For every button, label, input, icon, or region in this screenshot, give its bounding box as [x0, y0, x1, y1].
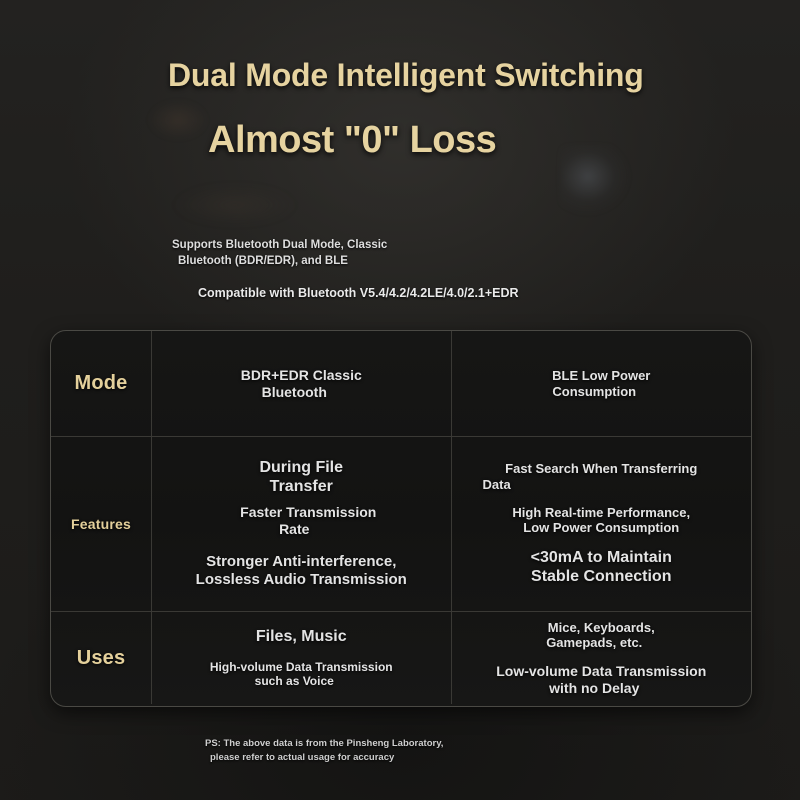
uses-ble-b1-line2: Gamepads, etc. — [546, 635, 642, 650]
cell-features-ble: Fast Search When Transferring Data High … — [452, 437, 752, 611]
page-title: Dual Mode Intelligent Switching — [0, 58, 728, 93]
row-label-cell-uses: Uses — [51, 612, 152, 704]
features-classic-b2-line2: Rate — [279, 521, 309, 538]
page-subtitle: Almost "0" Loss — [0, 93, 800, 161]
table-row: Mode BDR+EDR Classic Bluetooth BLE Low P… — [51, 331, 751, 437]
table-row: Features During File Transfer Faster Tra… — [51, 437, 751, 612]
spec-compatibility: Compatible with Bluetooth V5.4/4.2/4.2LE… — [0, 269, 800, 302]
ghost-shape-left-lower — [175, 185, 295, 225]
comparison-table: Mode BDR+EDR Classic Bluetooth BLE Low P… — [50, 330, 752, 707]
features-ble-b2-line1: High Real-time Performance, — [512, 505, 690, 520]
row-label-mode: Mode — [74, 372, 127, 395]
features-ble-b1-line2: Data — [453, 477, 511, 492]
cell-uses-classic: Files, Music High-volume Data Transmissi… — [152, 612, 452, 704]
footnote-line-2: please refer to actual usage for accurac… — [205, 751, 800, 765]
features-classic-b3-line2: Lossless Audio Transmission — [196, 571, 407, 589]
features-classic-b2-line1: Faster Transmission — [240, 504, 376, 521]
headline-block: Dual Mode Intelligent Switching Almost "… — [0, 58, 800, 160]
cell-features-classic: During File Transfer Faster Transmission… — [152, 437, 452, 611]
cell-mode-ble: BLE Low Power Consumption — [452, 331, 752, 436]
cell-mode-classic: BDR+EDR Classic Bluetooth — [152, 331, 452, 436]
footnote: PS: The above data is from the Pinsheng … — [0, 737, 800, 765]
features-ble-b3-line1: <30mA to Maintain — [531, 549, 672, 568]
uses-ble-b2-line2: with no Delay — [549, 680, 639, 697]
product-infographic-page: Dual Mode Intelligent Switching Almost "… — [0, 0, 800, 800]
mode-classic-line2: Bluetooth — [262, 384, 327, 401]
mode-classic-line1: BDR+EDR Classic — [241, 367, 362, 384]
uses-classic-b2-line1: High-volume Data Transmission — [210, 660, 393, 674]
cell-uses-ble: Mice, Keyboards, Gamepads, etc. Low-volu… — [452, 612, 752, 704]
mode-ble-line1: BLE Low Power — [552, 368, 650, 383]
footnote-line-1: PS: The above data is from the Pinsheng … — [205, 737, 800, 751]
features-ble-b2-line2: Low Power Consumption — [523, 520, 679, 535]
row-label-cell-mode: Mode — [51, 331, 152, 436]
uses-classic-b1-line1: Files, Music — [256, 628, 347, 647]
features-classic-b1-line2: Transfer — [270, 478, 333, 497]
row-label-uses: Uses — [77, 647, 126, 670]
spec-bullets: Supports Bluetooth Dual Mode, Classic Bl… — [0, 238, 800, 302]
spec-line-2: Bluetooth (BDR/EDR), and BLE — [0, 254, 800, 270]
row-label-features: Features — [71, 516, 131, 532]
features-ble-b3-line2: Stable Connection — [531, 568, 671, 587]
uses-classic-b2-line2: such as Voice — [255, 674, 334, 688]
spec-line-1: Supports Bluetooth Dual Mode, Classic — [0, 238, 800, 254]
mode-ble-line2: Consumption — [552, 384, 636, 399]
table-row: Uses Files, Music High-volume Data Trans… — [51, 612, 751, 704]
row-label-cell-features: Features — [51, 437, 152, 611]
features-classic-b1-line1: During File — [259, 459, 343, 478]
features-classic-b3-line1: Stronger Anti-interference, — [206, 553, 396, 571]
features-ble-b1-line1: Fast Search When Transferring — [505, 461, 697, 476]
uses-ble-b1-line1: Mice, Keyboards, — [548, 620, 655, 635]
uses-ble-b2-line1: Low-volume Data Transmission — [496, 663, 706, 680]
